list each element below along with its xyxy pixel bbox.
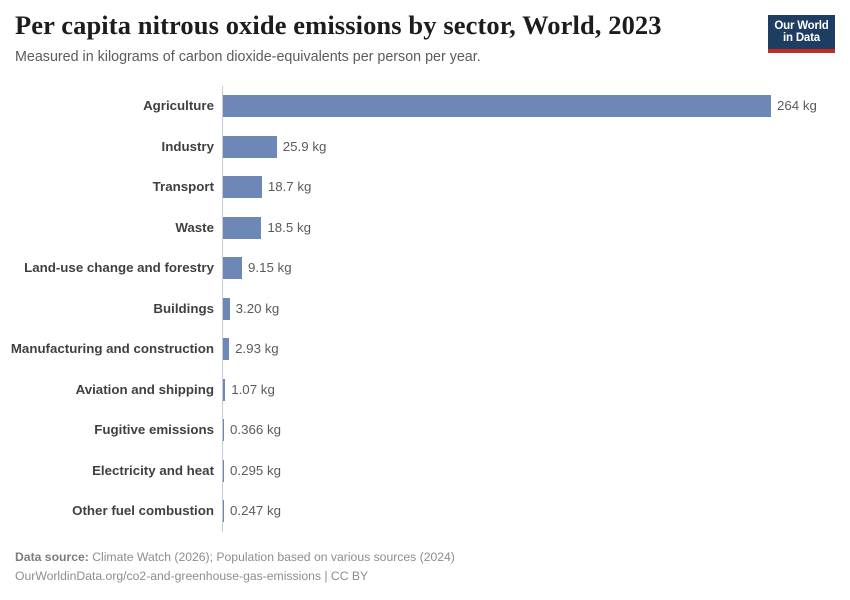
- bar-value-label: 18.7 kg: [268, 179, 312, 195]
- bar-category-label: Fugitive emissions: [0, 422, 214, 438]
- bar-fill[interactable]: [223, 379, 225, 401]
- bar-category-label: Electricity and heat: [0, 463, 214, 479]
- bar-track: 9.15 kg: [223, 257, 292, 279]
- bar-value-label: 264 kg: [777, 98, 817, 114]
- bar-track: 0.295 kg: [223, 460, 281, 482]
- bar-category-label: Waste: [0, 220, 214, 236]
- bar-value-label: 18.5 kg: [267, 220, 311, 236]
- data-source-text: Climate Watch (2026); Population based o…: [89, 550, 455, 564]
- bar-fill[interactable]: [223, 95, 771, 117]
- bar-track: 3.20 kg: [223, 298, 279, 320]
- bar-track: 18.5 kg: [223, 217, 311, 239]
- bar-fill[interactable]: [223, 338, 229, 360]
- chart-container: Per capita nitrous oxide emissions by se…: [0, 0, 850, 600]
- source-link-line[interactable]: OurWorldinData.org/co2-and-greenhouse-ga…: [15, 567, 815, 586]
- bar-fill[interactable]: [223, 257, 242, 279]
- bar-track: 1.07 kg: [223, 379, 275, 401]
- data-source-line: Data source: Climate Watch (2026); Popul…: [15, 548, 815, 567]
- bar-fill[interactable]: [223, 298, 230, 320]
- chart-subtitle: Measured in kilograms of carbon dioxide-…: [15, 48, 755, 66]
- bar-track: 25.9 kg: [223, 136, 326, 158]
- bar-row[interactable]: Fugitive emissions0.366 kg: [0, 410, 850, 451]
- chart-footer: Data source: Climate Watch (2026); Popul…: [15, 548, 815, 586]
- bar-row[interactable]: Electricity and heat0.295 kg: [0, 451, 850, 492]
- bar-value-label: 1.07 kg: [231, 382, 275, 398]
- bar-fill[interactable]: [223, 500, 224, 522]
- bar-category-label: Buildings: [0, 301, 214, 317]
- bar-value-label: 3.20 kg: [236, 301, 280, 317]
- bar-value-label: 9.15 kg: [248, 260, 292, 276]
- bar-chart-plot-area: Agriculture264 kgIndustry25.9 kgTranspor…: [0, 86, 850, 534]
- logo-line-two: in Data: [783, 32, 820, 45]
- page-title: Per capita nitrous oxide emissions by se…: [15, 10, 755, 40]
- bar-category-label: Manufacturing and construction: [0, 341, 214, 357]
- bar-row[interactable]: Industry25.9 kg: [0, 127, 850, 168]
- bar-track: 0.247 kg: [223, 500, 281, 522]
- bar-fill[interactable]: [223, 136, 277, 158]
- bar-category-label: Transport: [0, 179, 214, 195]
- bar-row[interactable]: Land-use change and forestry9.15 kg: [0, 248, 850, 289]
- bar-category-label: Agriculture: [0, 98, 214, 114]
- bar-value-label: 0.295 kg: [230, 463, 281, 479]
- our-world-in-data-logo[interactable]: Our World in Data: [768, 15, 835, 53]
- bar-fill[interactable]: [223, 217, 261, 239]
- bar-category-label: Industry: [0, 139, 214, 155]
- bar-category-label: Other fuel combustion: [0, 503, 214, 519]
- bar-value-label: 2.93 kg: [235, 341, 279, 357]
- bar-row[interactable]: Waste18.5 kg: [0, 208, 850, 249]
- bar-value-label: 0.366 kg: [230, 422, 281, 438]
- bar-fill[interactable]: [223, 176, 262, 198]
- bar-track: 264 kg: [223, 95, 817, 117]
- bar-row[interactable]: Buildings3.20 kg: [0, 289, 850, 330]
- bar-fill[interactable]: [223, 419, 224, 441]
- bar-track: 18.7 kg: [223, 176, 311, 198]
- bar-track: 0.366 kg: [223, 419, 281, 441]
- bar-row[interactable]: Agriculture264 kg: [0, 86, 850, 127]
- bar-row[interactable]: Manufacturing and construction2.93 kg: [0, 329, 850, 370]
- bar-row[interactable]: Transport18.7 kg: [0, 167, 850, 208]
- bar-value-label: 25.9 kg: [283, 139, 327, 155]
- bar-row[interactable]: Other fuel combustion0.247 kg: [0, 491, 850, 532]
- bar-row[interactable]: Aviation and shipping1.07 kg: [0, 370, 850, 411]
- bar-fill[interactable]: [223, 460, 224, 482]
- bar-track: 2.93 kg: [223, 338, 279, 360]
- chart-header: Per capita nitrous oxide emissions by se…: [15, 10, 755, 66]
- bar-category-label: Aviation and shipping: [0, 382, 214, 398]
- data-source-label: Data source:: [15, 550, 89, 564]
- logo-line-one: Our World: [774, 20, 828, 33]
- bar-category-label: Land-use change and forestry: [0, 260, 214, 276]
- bar-value-label: 0.247 kg: [230, 503, 281, 519]
